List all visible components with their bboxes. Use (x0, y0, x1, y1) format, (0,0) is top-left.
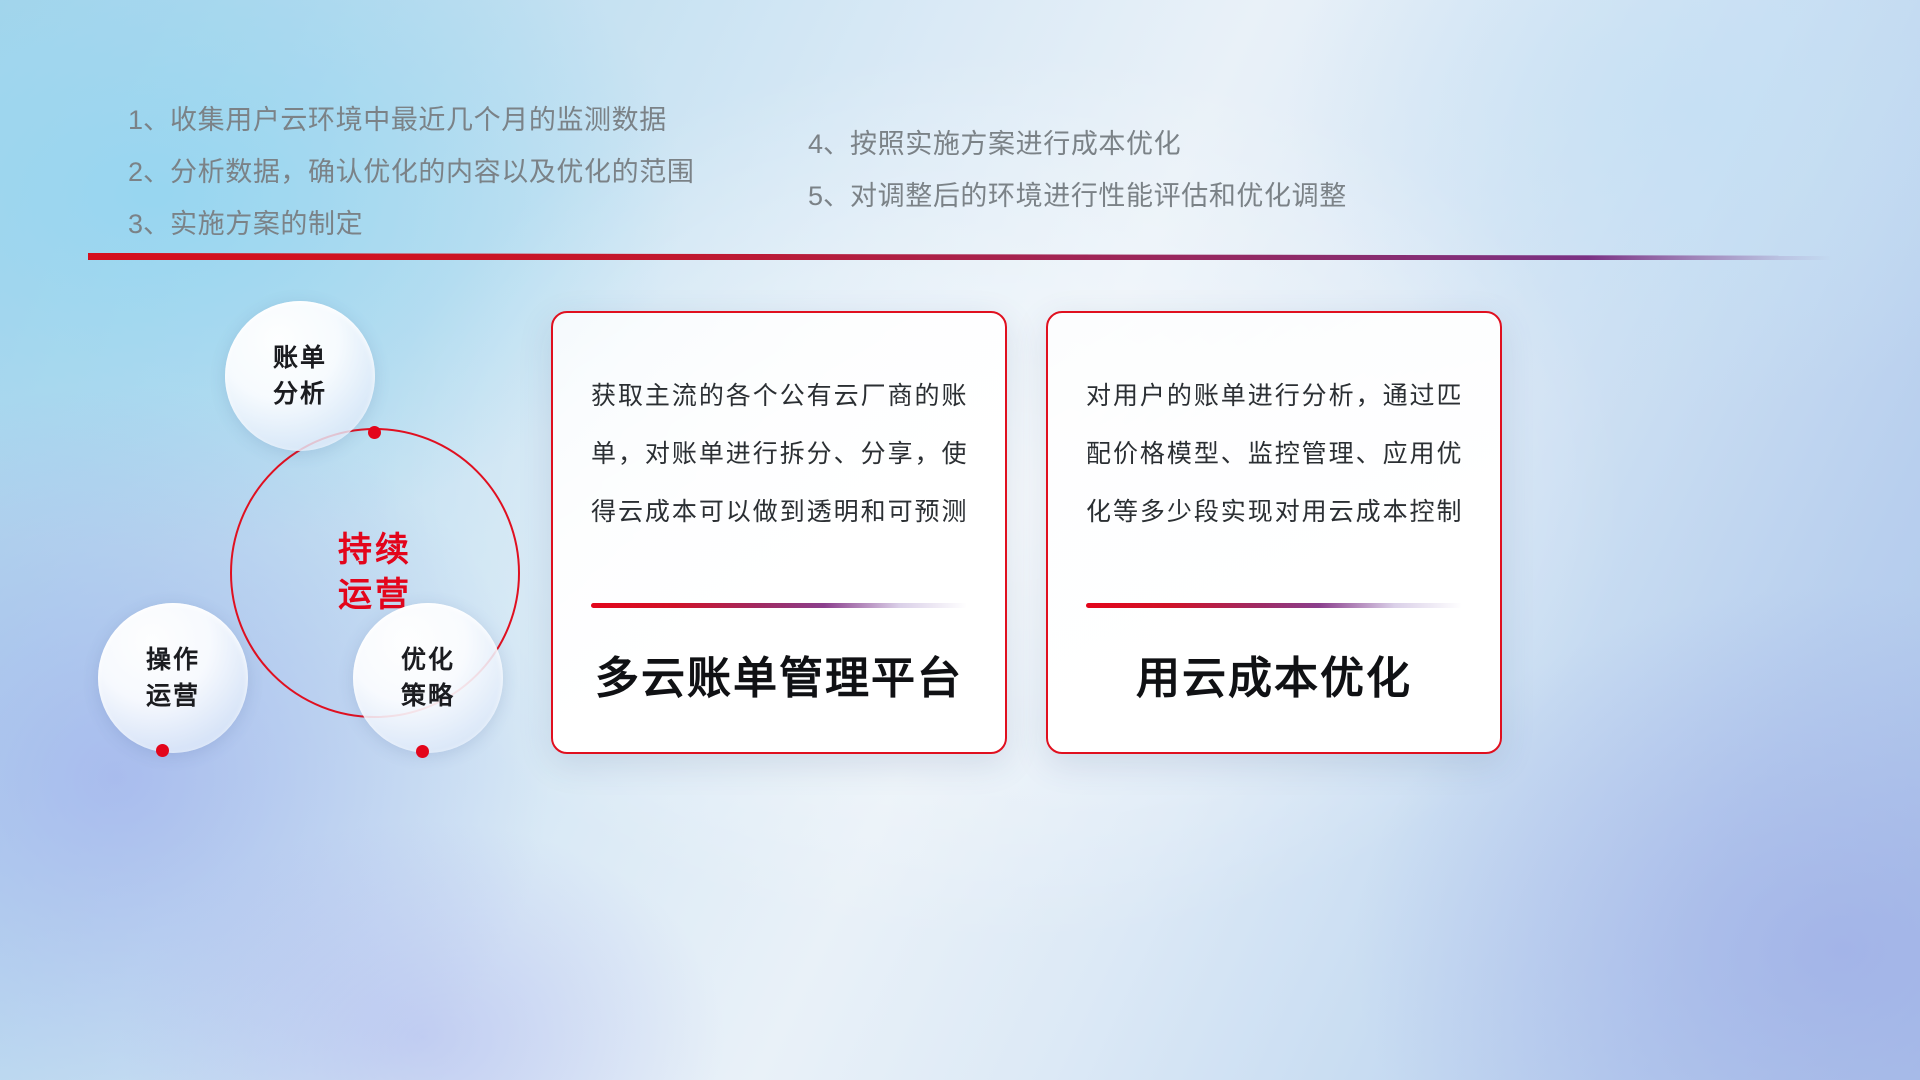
step-item-2-number: 2、 (128, 157, 170, 187)
card-cloud-cost-optimization[interactable]: 对用户的账单进行分析，通过匹配价格模型、监控管理、应用优化等多少段实现对用云成本… (1046, 311, 1502, 754)
card-2-title: 用云成本优化 (1086, 642, 1462, 706)
card-1-divider (591, 603, 967, 608)
step-item-2: 2、分析数据，确认优化的内容以及优化的范围 (128, 146, 694, 198)
bubble-operations-line2: 运营 (146, 678, 200, 714)
step-item-1: 1、收集用户云环境中最近几个月的监测数据 (128, 94, 694, 146)
step-item-2-text: 分析数据，确认优化的内容以及优化的范围 (170, 157, 694, 187)
step-item-3: 3、实施方案的制定 (128, 198, 694, 250)
step-item-5-text: 对调整后的环境进行性能评估和优化调整 (850, 181, 1347, 211)
step-item-5-number: 5、 (808, 181, 850, 211)
diagram-node-dot-right (416, 745, 429, 758)
bubble-bill-analysis-line1: 账单 (273, 340, 327, 376)
step-item-1-text: 收集用户云环境中最近几个月的监测数据 (170, 105, 667, 135)
diagram-node-dot-left (156, 744, 169, 757)
step-item-4: 4、按照实施方案进行成本优化 (808, 118, 1347, 170)
step-item-4-text: 按照实施方案进行成本优化 (850, 129, 1181, 159)
card-2-divider (1086, 603, 1462, 608)
step-item-5: 5、对调整后的环境进行性能评估和优化调整 (808, 170, 1347, 222)
bubble-bill-analysis-line2: 分析 (273, 376, 327, 412)
diagram-bubble-operations[interactable]: 操作 运营 (98, 603, 248, 753)
card-1-body-text: 获取主流的各个公有云厂商的账单，对账单进行拆分、分享，使得云成本可以做到透明和可… (591, 367, 967, 541)
step-item-1-number: 1、 (128, 105, 170, 135)
divider-gradient-bar (88, 253, 1832, 260)
diagram-bubble-optimization-strategy[interactable]: 优化 策略 (353, 603, 503, 753)
bubble-operations-line1: 操作 (146, 642, 200, 678)
continuous-operation-diagram: 持续 运营 账单 分析 操作 运营 优化 策略 (78, 288, 578, 788)
diagram-center-label-line1: 持续 (338, 528, 412, 573)
card-multicloud-billing-platform[interactable]: 获取主流的各个公有云厂商的账单，对账单进行拆分、分享，使得云成本可以做到透明和可… (551, 311, 1007, 754)
diagram-node-dot-top (368, 426, 381, 439)
step-item-3-number: 3、 (128, 209, 170, 239)
card-1-title: 多云账单管理平台 (591, 642, 967, 706)
bubble-optimization-strategy-line2: 策略 (401, 678, 455, 714)
section-divider (88, 253, 1832, 263)
diagram-bubble-bill-analysis[interactable]: 账单 分析 (225, 301, 375, 451)
steps-right-column: 4、按照实施方案进行成本优化 5、对调整后的环境进行性能评估和优化调整 (808, 118, 1347, 222)
card-2-body-text: 对用户的账单进行分析，通过匹配价格模型、监控管理、应用优化等多少段实现对用云成本… (1086, 367, 1462, 541)
steps-left-column: 1、收集用户云环境中最近几个月的监测数据 2、分析数据，确认优化的内容以及优化的… (128, 94, 694, 250)
bubble-optimization-strategy-line1: 优化 (401, 642, 455, 678)
step-item-3-text: 实施方案的制定 (170, 209, 363, 239)
step-item-4-number: 4、 (808, 129, 850, 159)
